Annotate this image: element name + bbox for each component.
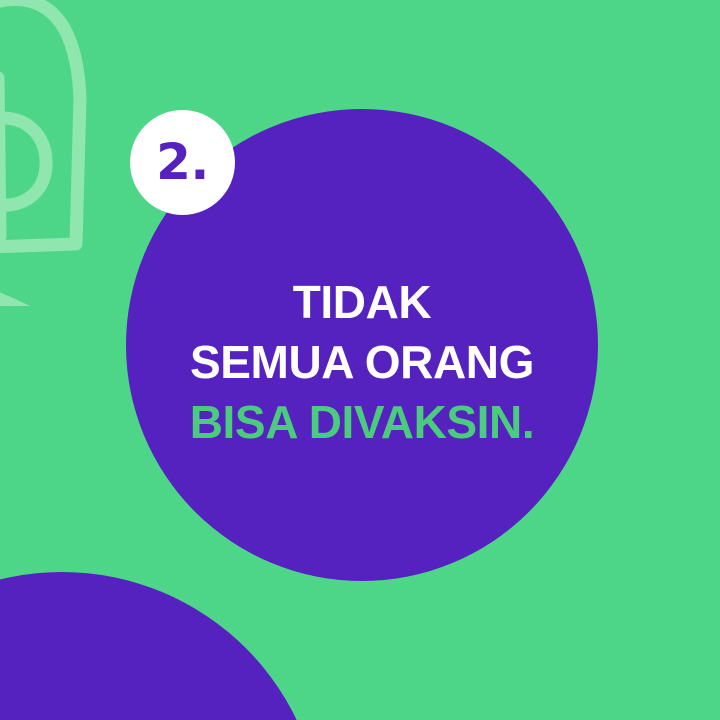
headline-line-1: TIDAK [126,272,598,332]
poster-canvas: TIDAK SEMUA ORANG BISA DIVAKSIN. 2. [0,0,720,720]
step-number-label: 2. [156,137,209,187]
headline-block: TIDAK SEMUA ORANG BISA DIVAKSIN. [126,272,598,452]
headline-line-2: SEMUA ORANG [126,332,598,392]
headline-line-3: BISA DIVAKSIN. [126,392,598,452]
step-number-badge: 2. [130,110,235,215]
